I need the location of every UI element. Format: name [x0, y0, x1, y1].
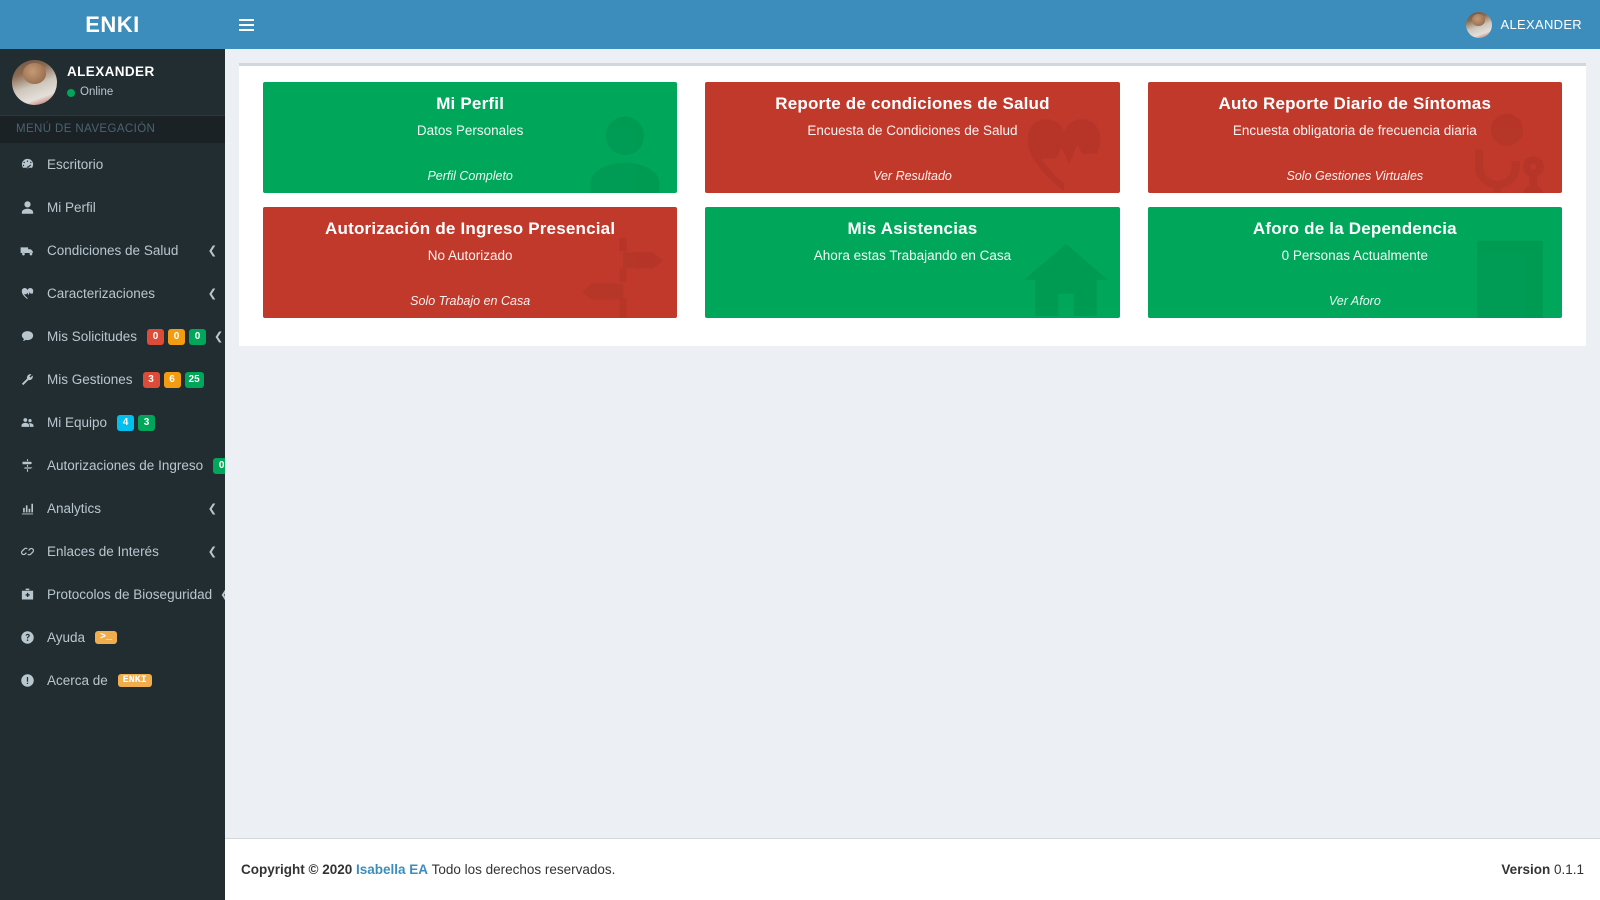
header-user-menu[interactable]: ALEXANDER [1448, 0, 1600, 49]
sidebar-item-badges: ENKI [118, 674, 152, 687]
heartbeat-icon [17, 286, 37, 301]
medkit-icon [17, 587, 37, 602]
exclamation-circle-icon [17, 673, 37, 688]
footer-copyright: Copyright © 2020 Isabella EA Todo los de… [241, 862, 615, 877]
footer-version: Version 0.1.1 [1501, 862, 1584, 877]
card-footer-link[interactable]: Ver Aforo [1162, 294, 1548, 308]
card-footer-link[interactable]: Solo Trabajo en Casa [277, 294, 663, 308]
avatar [12, 60, 57, 105]
status-badge: >_ [95, 631, 117, 644]
main-content: Mi PerfilDatos PersonalesPerfil Completo… [225, 49, 1600, 838]
sidebar-item-acerca-de[interactable]: Acerca deENKI [0, 659, 225, 702]
card-title: Mi Perfil [277, 94, 663, 114]
status-badge: 3 [143, 372, 160, 388]
wrench-icon [17, 372, 37, 387]
card-title: Reporte de condiciones de Salud [719, 94, 1105, 114]
dashboard-card-grid: Mi PerfilDatos PersonalesPerfil Completo… [263, 82, 1562, 318]
signpost-icon [17, 458, 37, 473]
sidebar-item-label: Mi Perfil [47, 200, 96, 215]
chevron-left-icon[interactable]: ❮ [200, 502, 217, 515]
sidebar-item-badges: 3625 [143, 372, 204, 388]
card-footer-link[interactable]: Solo Gestiones Virtuales [1162, 169, 1548, 183]
online-dot-icon [67, 89, 75, 97]
sidebar-item-escritorio[interactable]: Escritorio [0, 143, 225, 186]
sidebar: ENKI ALEXANDER Online MENÚ DE NAVEGACIÓN… [0, 0, 225, 900]
header-avatar [1466, 12, 1492, 38]
sidebar-user-info: ALEXANDER Online [67, 63, 155, 101]
question-circle-icon [17, 630, 37, 645]
sidebar-item-condiciones-de-salud[interactable]: Condiciones de Salud❮ [0, 229, 225, 272]
sidebar-item-label: Escritorio [47, 157, 103, 172]
sidebar-user-status-label: Online [80, 85, 113, 101]
card-subtitle: Encuesta de Condiciones de Salud [719, 123, 1105, 138]
dashboard-panel: Mi PerfilDatos PersonalesPerfil Completo… [239, 63, 1586, 346]
status-badge: ENKI [118, 674, 152, 687]
dashboard-card-reporte-de-condiciones-de-salud[interactable]: Reporte de condiciones de SaludEncuesta … [705, 82, 1119, 193]
sidebar-item-badges: >_ [95, 631, 117, 644]
sidebar-item-label: Ayuda [47, 630, 85, 645]
chevron-left-icon[interactable]: ❮ [200, 545, 217, 558]
top-header: ALEXANDER [225, 0, 1600, 49]
dashboard-icon [17, 157, 37, 172]
sidebar-item-badges: 000 [147, 329, 206, 345]
status-badge: 25 [185, 372, 204, 388]
brand-logo[interactable]: ENKI [0, 0, 225, 49]
home-art-icon [1018, 234, 1114, 318]
card-subtitle: Ahora estas Trabajando en Casa [719, 248, 1105, 263]
card-title: Mis Asistencias [719, 219, 1105, 239]
sidebar-nav: EscritorioMi PerfilCondiciones de Salud❮… [0, 143, 225, 702]
card-subtitle: 0 Personas Actualmente [1162, 248, 1548, 263]
sidebar-item-caracterizaciones[interactable]: Caracterizaciones❮ [0, 272, 225, 315]
sidebar-item-enlaces-de-interés[interactable]: Enlaces de Interés❮ [0, 530, 225, 573]
sidebar-menu-header: MENÚ DE NAVEGACIÓN [0, 116, 225, 143]
sidebar-item-badges: 0 [213, 458, 225, 474]
dashboard-card-auto-reporte-diario-de-síntomas[interactable]: Auto Reporte Diario de SíntomasEncuesta … [1148, 82, 1562, 193]
header-username: ALEXANDER [1501, 17, 1582, 32]
page-footer: Copyright © 2020 Isabella EA Todo los de… [225, 838, 1600, 900]
app-root: ENKI ALEXANDER Online MENÚ DE NAVEGACIÓN… [0, 0, 1600, 900]
user-icon [17, 200, 37, 215]
sidebar-item-ayuda[interactable]: Ayuda>_ [0, 616, 225, 659]
status-badge: 4 [117, 415, 134, 431]
brand-title: ENKI [85, 12, 140, 38]
footer-version-number: 0.1.1 [1554, 862, 1584, 877]
dashboard-card-mi-perfil[interactable]: Mi PerfilDatos PersonalesPerfil Completo [263, 82, 677, 193]
hamburger-icon[interactable] [225, 0, 267, 49]
ambulance-icon [17, 243, 37, 258]
link-icon [17, 544, 37, 559]
footer-company-link[interactable]: Isabella EA [356, 862, 428, 877]
sidebar-item-autorizaciones-de-ingreso[interactable]: Autorizaciones de Ingreso0 [0, 444, 225, 487]
status-badge: 0 [213, 458, 225, 474]
card-subtitle: No Autorizado [277, 248, 663, 263]
sidebar-user-status: Online [67, 85, 155, 101]
status-badge: 0 [189, 329, 206, 345]
card-subtitle: Encuesta obligatoria de frecuencia diari… [1162, 123, 1548, 138]
sidebar-item-mis-solicitudes[interactable]: Mis Solicitudes000❮ [0, 315, 225, 358]
footer-copyright-suffix: Todo los derechos reservados. [432, 862, 616, 877]
status-badge: 0 [168, 329, 185, 345]
chevron-left-icon[interactable]: ❮ [200, 287, 217, 300]
comment-icon [17, 329, 37, 344]
sidebar-user-name: ALEXANDER [67, 63, 155, 81]
status-badge: 3 [138, 415, 155, 431]
card-subtitle: Datos Personales [277, 123, 663, 138]
dashboard-card-mis-asistencias[interactable]: Mis AsistenciasAhora estas Trabajando en… [705, 207, 1119, 318]
bar-chart-icon [17, 501, 37, 516]
card-title: Autorización de Ingreso Presencial [277, 219, 663, 239]
footer-copyright-prefix: Copyright © 2020 [241, 862, 352, 877]
sidebar-item-label: Condiciones de Salud [47, 243, 178, 258]
sidebar-item-protocolos-de-bioseguridad[interactable]: Protocolos de Bioseguridad❮ [0, 573, 225, 616]
sidebar-item-mi-equipo[interactable]: Mi Equipo43 [0, 401, 225, 444]
sidebar-user-panel[interactable]: ALEXANDER Online [0, 49, 225, 116]
status-badge: 6 [164, 372, 181, 388]
sidebar-item-analytics[interactable]: Analytics❮ [0, 487, 225, 530]
sidebar-item-label: Caracterizaciones [47, 286, 155, 301]
card-footer-link[interactable]: Perfil Completo [277, 169, 663, 183]
dashboard-card-aforo-de-la-dependencia[interactable]: Aforo de la Dependencia0 Personas Actual… [1148, 207, 1562, 318]
dashboard-card-autorización-de-ingreso-presencial[interactable]: Autorización de Ingreso PresencialNo Aut… [263, 207, 677, 318]
chevron-left-icon[interactable]: ❮ [212, 588, 225, 601]
sidebar-item-label: Enlaces de Interés [47, 544, 159, 559]
sidebar-item-mi-perfil[interactable]: Mi Perfil [0, 186, 225, 229]
sidebar-item-label: Analytics [47, 501, 101, 516]
card-title: Aforo de la Dependencia [1162, 219, 1548, 239]
sidebar-item-label: Mis Solicitudes [47, 329, 137, 344]
sidebar-item-badges: 43 [117, 415, 155, 431]
card-footer-link[interactable]: Ver Resultado [719, 169, 1105, 183]
status-badge: 0 [147, 329, 164, 345]
chevron-left-icon[interactable]: ❮ [206, 330, 223, 343]
card-title: Auto Reporte Diario de Síntomas [1162, 94, 1548, 114]
sidebar-item-label: Acerca de [47, 673, 108, 688]
sidebar-item-label: Autorizaciones de Ingreso [47, 458, 203, 473]
chevron-left-icon[interactable]: ❮ [200, 244, 217, 257]
sidebar-item-label: Mis Gestiones [47, 372, 133, 387]
sidebar-item-label: Protocolos de Bioseguridad [47, 587, 212, 602]
sidebar-item-label: Mi Equipo [47, 415, 107, 430]
footer-version-label: Version [1501, 862, 1550, 877]
users-icon [17, 415, 37, 430]
sidebar-item-mis-gestiones[interactable]: Mis Gestiones3625 [0, 358, 225, 401]
